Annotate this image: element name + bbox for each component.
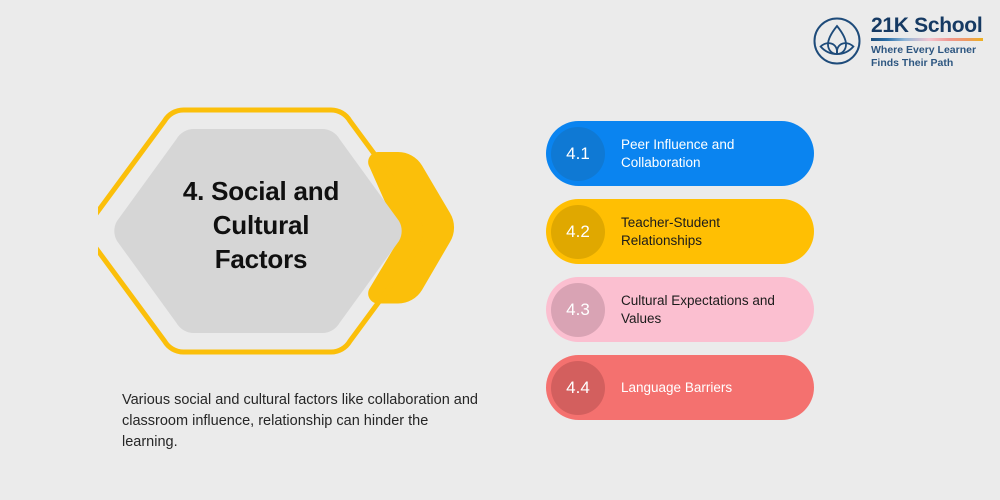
brand-logo: 21K School Where Every Learner Finds The… [812,14,992,76]
list-item[interactable]: 4.4 Language Barriers [546,355,814,420]
logo-tagline-line1: Where Every Learner [871,44,976,56]
logo-wordmark: 21K School [871,15,983,37]
description-text: Various social and cultural factors like… [122,390,482,453]
logo-gradient-rule [871,38,983,41]
hexagon-title: 4. Social and Cultural Factors [146,174,376,276]
pill-number-badge: 4.3 [551,283,605,337]
logo-tagline: Where Every Learner Finds Their Path [871,44,983,69]
pill-label: Cultural Expectations and Values [621,292,802,328]
list-item[interactable]: 4.2 Teacher-Student Relationships [546,199,814,264]
lotus-circle-icon [812,16,862,66]
hexagon-title-line2: Cultural [213,210,310,240]
factor-list: 4.1 Peer Influence and Collaboration 4.2… [546,121,814,420]
list-item[interactable]: 4.1 Peer Influence and Collaboration [546,121,814,186]
pill-label: Teacher-Student Relationships [621,214,802,250]
pill-number-badge: 4.1 [551,127,605,181]
hexagon-group: 4. Social and Cultural Factors [98,82,458,382]
pill-number-badge: 4.4 [551,361,605,415]
logo-tagline-line2: Finds Their Path [871,57,953,69]
logo-text-block: 21K School Where Every Learner Finds The… [871,14,983,69]
infographic-canvas: 21K School Where Every Learner Finds The… [0,0,1000,500]
pill-number-badge: 4.2 [551,205,605,259]
hexagon-title-line3: Factors [215,244,308,274]
list-item[interactable]: 4.3 Cultural Expectations and Values [546,277,814,342]
hexagon-title-line1: 4. Social and [183,176,339,206]
pill-label: Peer Influence and Collaboration [621,136,802,172]
pill-label: Language Barriers [621,379,732,397]
